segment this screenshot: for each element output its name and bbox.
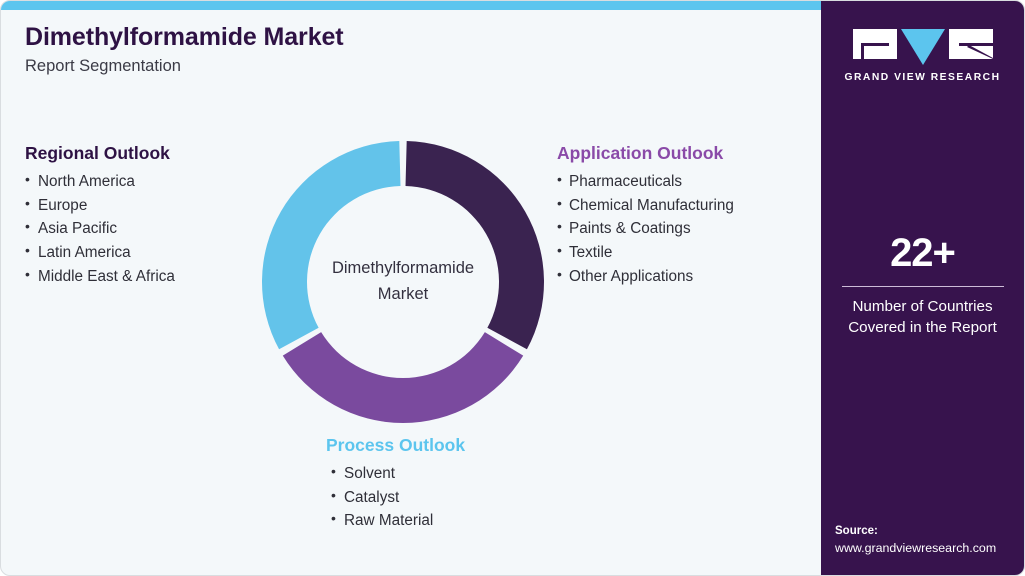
list-item: Latin America [25,241,175,265]
donut-chart-svg [260,139,546,425]
list-item: Catalyst [331,486,465,510]
application-outlook-section: Application Outlook Pharmaceuticals Chem… [557,143,734,288]
top-accent-bar [1,1,823,10]
logo-g-mark-icon [853,29,897,59]
stat-value: 22+ [821,233,1024,273]
list-item: Textile [557,241,734,265]
header: Dimethylformamide Market Report Segmenta… [25,23,625,77]
page-subtitle: Report Segmentation [25,57,625,77]
stat-label-line2: Covered in the Report [821,318,1024,339]
regional-outlook-section: Regional Outlook North America Europe As… [25,143,175,288]
application-outlook-title: Application Outlook [557,143,734,165]
stat-label: Number of Countries Covered in the Repor… [821,297,1024,338]
donut-segment [283,332,523,423]
list-item: Pharmaceuticals [557,170,734,194]
application-outlook-list: Pharmaceuticals Chemical Manufacturing P… [557,170,734,289]
regional-outlook-list: North America Europe Asia Pacific Latin … [25,170,175,289]
process-outlook-section: Process Outlook Solvent Catalyst Raw Mat… [323,435,465,533]
list-item: Raw Material [331,509,465,533]
process-outlook-list: Solvent Catalyst Raw Material [323,462,465,533]
page-title: Dimethylformamide Market [25,23,625,52]
list-item: Solvent [331,462,465,486]
process-outlook-title: Process Outlook [323,435,465,457]
source-title: Source: [835,523,996,540]
list-item: Europe [25,194,175,218]
stat-block: 22+ Number of Countries Covered in the R… [821,233,1024,338]
donut-segment [406,141,544,349]
side-panel: GRAND VIEW RESEARCH 22+ Number of Countr… [821,1,1024,576]
donut-chart: Dimethylformamide Market [260,139,546,425]
list-item: Paints & Coatings [557,217,734,241]
donut-segment [262,141,400,349]
stat-label-line1: Number of Countries [821,297,1024,318]
regional-outlook-title: Regional Outlook [25,143,175,165]
logo-v-triangle-icon [901,29,945,65]
list-item: Other Applications [557,265,734,289]
infographic-card: Dimethylformamide Market Report Segmenta… [0,0,1025,576]
list-item: Asia Pacific [25,217,175,241]
source-url[interactable]: www.grandviewresearch.com [835,540,996,558]
logo-marks [853,29,993,65]
source-block: Source: www.grandviewresearch.com [835,523,996,558]
list-item: North America [25,170,175,194]
list-item: Chemical Manufacturing [557,194,734,218]
brand-logo: GRAND VIEW RESEARCH [821,29,1024,83]
logo-wordmark: GRAND VIEW RESEARCH [844,72,1000,83]
list-item: Middle East & Africa [25,265,175,289]
logo-r-mark-icon [949,29,993,59]
stat-divider [842,286,1004,287]
